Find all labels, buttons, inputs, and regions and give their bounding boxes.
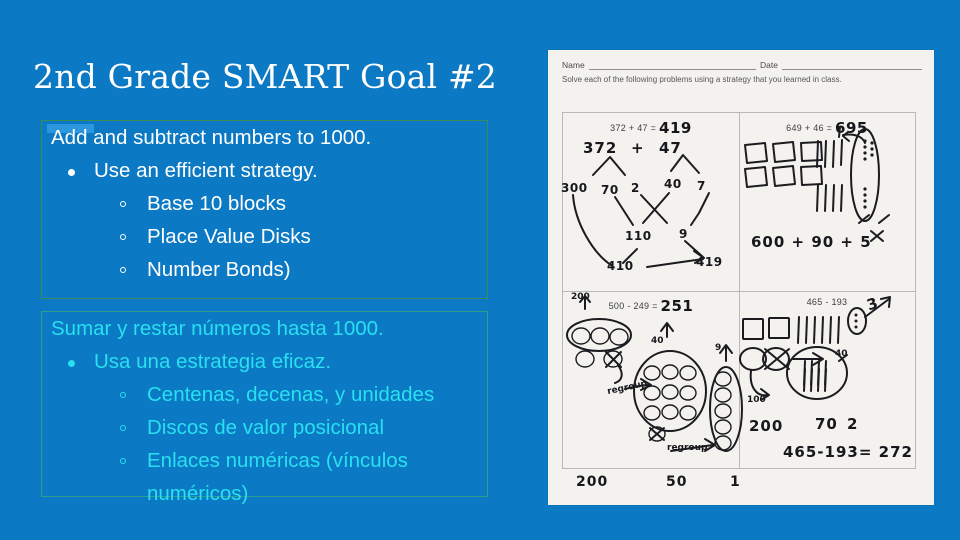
goal-spanish-lines: Sumar y restar números hasta 1000. Usa u… xyxy=(42,312,487,510)
goal-en-line-2: Base 10 blocks xyxy=(42,187,487,220)
date-blank-line xyxy=(782,61,922,70)
problem-cell-bottom-left: 500 - 249 = 251 200 40 9 regroup regroup xyxy=(563,291,739,469)
goal-english-lines: Add and subtract numbers to 1000. Use an… xyxy=(42,121,487,286)
problem-cell-top-left: 372 + 47 = 419 372 + 47 300 70 2 40 7 11… xyxy=(563,113,739,291)
date-label: Date xyxy=(760,60,778,70)
hw-label-70-b: 70 xyxy=(815,415,838,433)
slide-canvas: 2nd Grade SMART Goal #2 Add and subtract… xyxy=(0,0,960,540)
hw-label-40-b: 40 xyxy=(835,349,848,359)
hw-label-100-b: 100 xyxy=(747,395,766,405)
goal-es-line-0: Sumar y restar números hasta 1000. xyxy=(42,312,487,345)
place-value-disks-drawing-3 xyxy=(563,291,739,469)
number-bond-arrows xyxy=(563,113,739,291)
bottom-number-1: 200 xyxy=(576,474,608,490)
goal-en-line-0: Add and subtract numbers to 1000. xyxy=(42,121,487,154)
hw-label-2-b: 2 xyxy=(847,415,858,433)
goal-es-line-4: Enlaces numéricas (vínculos xyxy=(42,444,487,477)
goal-text-box-spanish[interactable]: Sumar y restar números hasta 1000. Usa u… xyxy=(41,311,488,497)
hw-final-equation-4: 465-193= 272 xyxy=(783,443,913,461)
goal-es-line-1: Usa una estrategia eficaz. xyxy=(42,345,487,378)
goal-es-line-2: Centenas, decenas, y unidades xyxy=(42,378,487,411)
worksheet-page: Name Date Solve each of the following pr… xyxy=(548,50,934,505)
worksheet-bottom-row: 200 50 1 xyxy=(562,470,914,502)
problem-cell-top-right: 649 + 46 = 695 xyxy=(739,113,915,291)
name-label: Name xyxy=(562,60,585,70)
student-worksheet-image[interactable]: Name Date Solve each of the following pr… xyxy=(548,50,934,505)
problem-cell-bottom-right: 465 - 193 3 xyxy=(739,291,915,469)
bottom-number-3: 1 xyxy=(730,474,741,490)
worksheet-name-date-row: Name Date xyxy=(562,60,922,70)
name-blank-line xyxy=(589,61,756,70)
goal-es-line-5: numéricos) xyxy=(42,477,487,510)
base-ten-blocks-drawing xyxy=(739,113,915,291)
hw-expanded-form-2: 600 + 90 + 5 xyxy=(751,233,872,251)
worksheet-instructions: Solve each of the following problems usi… xyxy=(562,75,892,86)
goal-text-box-english[interactable]: Add and subtract numbers to 1000. Use an… xyxy=(41,120,488,299)
worksheet-problem-grid: 372 + 47 = 419 372 + 47 300 70 2 40 7 11… xyxy=(562,112,916,469)
goal-en-line-4: Number Bonds) xyxy=(42,253,487,286)
bottom-number-2: 50 xyxy=(666,474,687,490)
goal-es-line-3: Discos de valor posicional xyxy=(42,411,487,444)
worksheet-header: Name Date Solve each of the following pr… xyxy=(562,60,922,86)
page-title: 2nd Grade SMART Goal #2 xyxy=(33,58,553,96)
hw-label-200-b: 200 xyxy=(749,417,783,435)
goal-en-line-1: Use an efficient strategy. xyxy=(42,154,487,187)
goal-en-line-3: Place Value Disks xyxy=(42,220,487,253)
